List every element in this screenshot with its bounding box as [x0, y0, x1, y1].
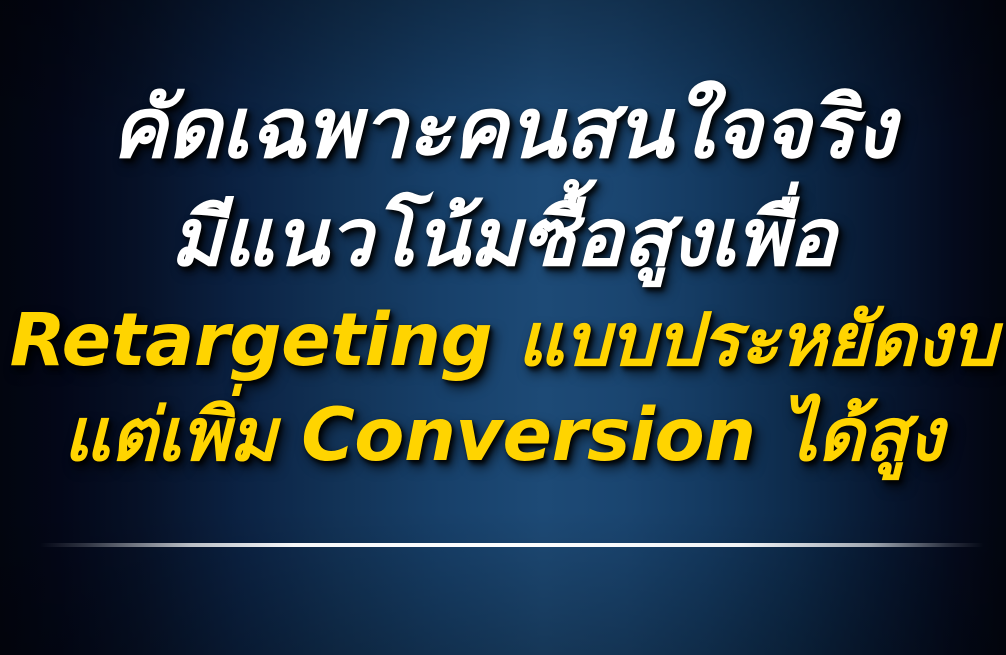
headline-stack: คัดเฉพาะคนสนใจจริง มีแนวโน้มซื้อสูงเพื่อ… — [0, 0, 1006, 655]
headline-line-1: คัดเฉพาะคนสนใจจริง — [0, 86, 1006, 170]
promo-banner: คัดเฉพาะคนสนใจจริง มีแนวโน้มซื้อสูงเพื่อ… — [0, 0, 1006, 655]
headline-line-3: Retargeting แบบประหยัดงบ — [0, 304, 1006, 377]
headline-line-2: มีแนวโน้มซื้อสูงเพื่อ — [0, 198, 1006, 278]
headline-line-4: แต่เพิ่ม Conversion ได้สูง — [0, 399, 1006, 472]
